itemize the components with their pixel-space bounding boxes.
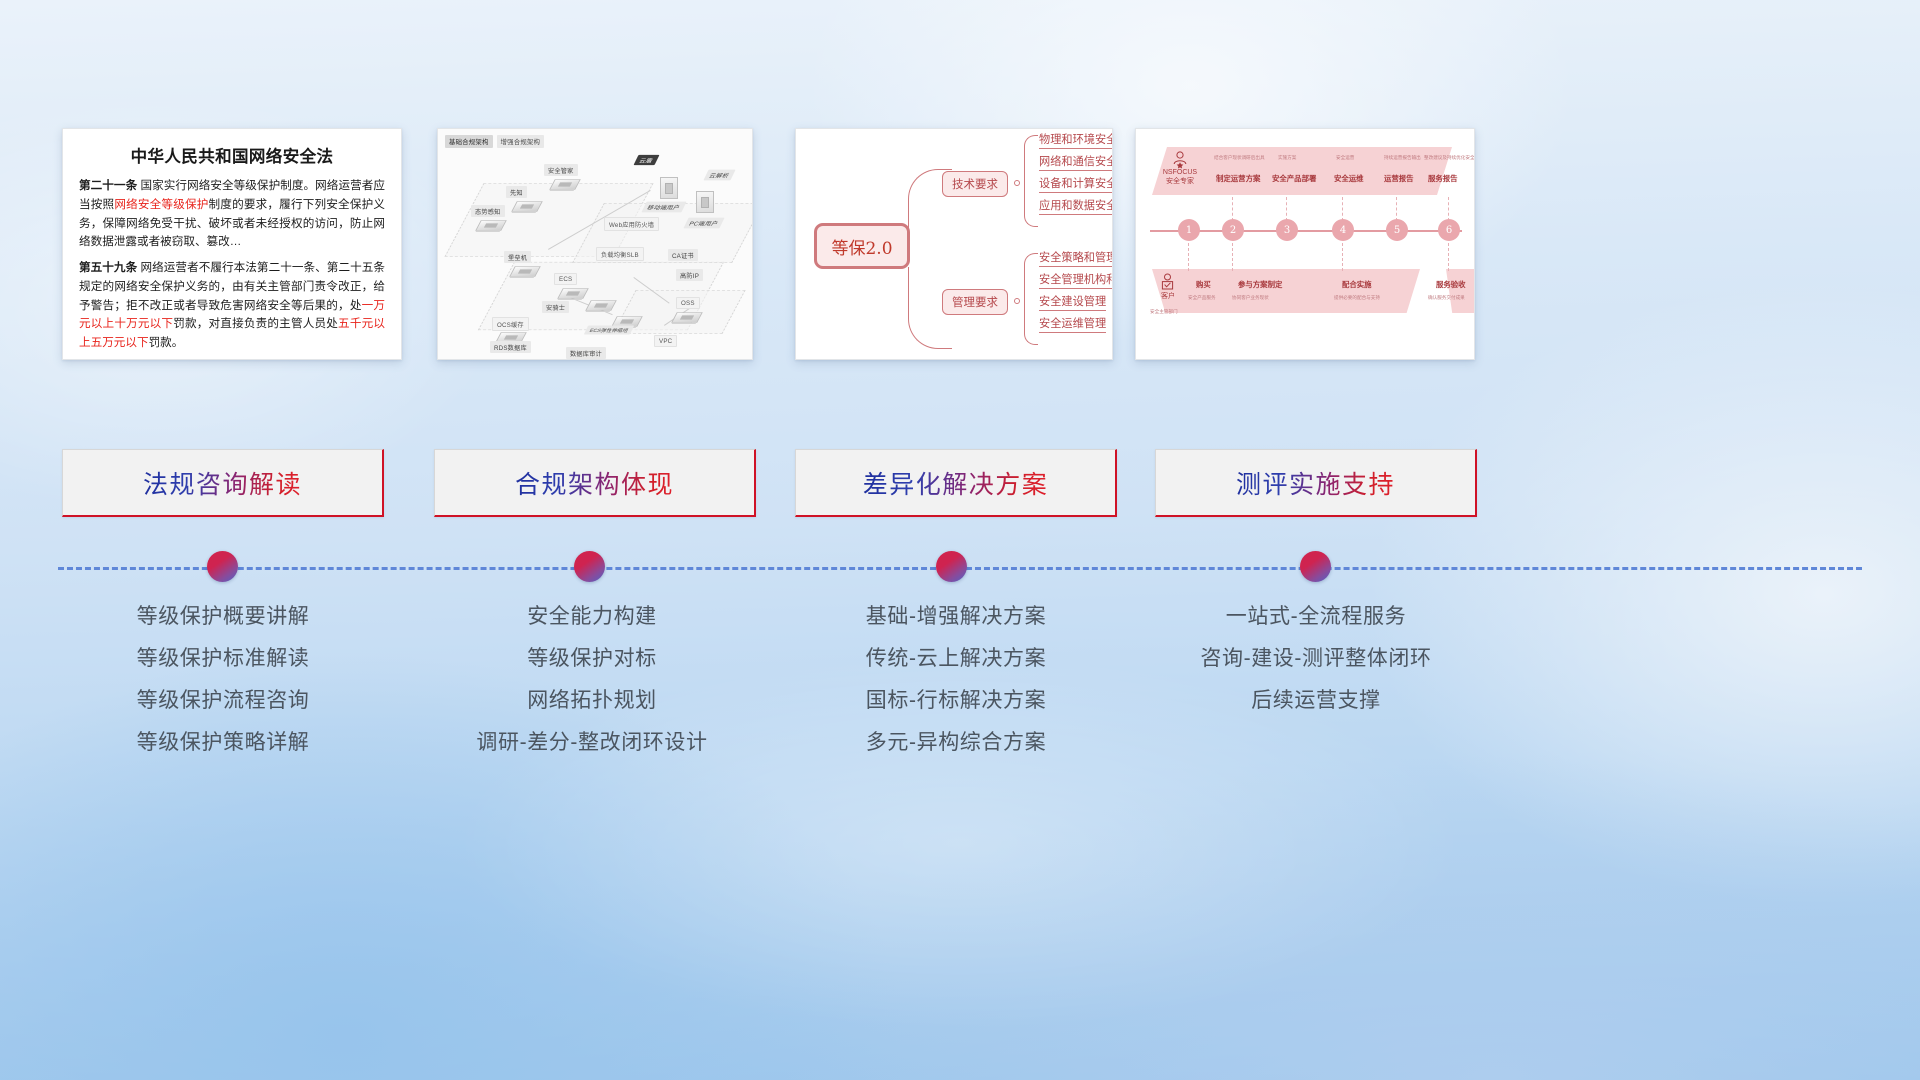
list-item: 基础-增强解决方案 [786,606,1126,628]
banner-label-1: 法规咨询解读 [143,465,302,501]
chip-slb: 负载均衡SLB [596,247,644,261]
upper-sub-5: 整改建议及持续优化安全运营体系 [1424,155,1475,161]
law-document: 中华人民共和国网络安全法 第二十一条 国家实行网络安全等级保护制度。网络运营者应… [63,129,401,360]
list-item: 网络拓扑规划 [422,690,762,712]
chip-mobile-user: 移动端用户 [641,202,686,213]
thumbnail-card-timeline[interactable]: NSFOCUS 安全专家 结合客户现状调研后出具 制定运营方案 实施方案 安全产… [1135,128,1475,360]
server-pc-client [696,191,714,213]
upper-label-3: 安全运维 [1334,173,1364,184]
list-item: 后续运营支撑 [1146,690,1486,712]
mindmap-leaf-policy-system: 安全策略和管理制度 [1039,249,1113,267]
upper-label-2: 安全产品部署 [1272,173,1316,184]
timeline-brand-label: NSFOCUS 安全专家 [1158,169,1202,187]
list-item: 传统-云上解决方案 [786,648,1126,670]
timeline-stem-2-down [1232,243,1233,271]
list-item: 国标-行标解决方案 [786,690,1126,712]
timeline-stem-5 [1396,197,1397,221]
bullet-column-1: 等级保护概要讲解 等级保护标准解读 等级保护流程咨询 等级保护策略详解 [53,606,393,774]
timeline-stem-1-down [1188,243,1189,271]
chip-security-butler: 安全管家 [544,164,578,176]
timeline-node-2: 2 [1222,219,1244,241]
timeline-stem-4-down [1342,243,1343,271]
timeline-node-1: 1 [1178,219,1200,241]
architecture-tabs[interactable]: 基础合规架构 增强合规架构 [445,135,544,148]
rail-dot-3[interactable] [936,551,967,582]
brand-role: 安全专家 [1158,178,1202,187]
article-21-highlight: 网络安全等级保护 [114,198,208,211]
mindmap-leaf-construction-mgmt: 安全建设管理 [1039,293,1106,311]
bullet-column-3: 基础-增强解决方案 传统-云上解决方案 国标-行标解决方案 多元-异构综合方案 [786,606,1126,774]
banner-label-2: 合规架构体现 [515,465,674,501]
rail-dot-2[interactable] [574,551,605,582]
upper-label-5: 服务报告 [1428,173,1458,184]
timeline-lower-band-2 [1446,269,1475,313]
mindmap-leaf-physical-env: 物理和环境安全 [1039,131,1113,149]
list-item: 等级保护对标 [422,648,762,670]
architecture-diagram: 基础合规架构 增强合规架构 云盾 态势感知 先知 安全管家 堡垒机 [438,129,752,359]
bullet-column-4: 一站式-全流程服务 咨询-建设-测评整体闭环 后续运营支撑 [1146,606,1486,732]
lower-label-2: 参与方案制定 [1238,279,1282,290]
article-59-label: 第五十九条 [79,261,137,274]
timeline-customer-label: 客户 [1150,293,1186,302]
bullet-column-2: 安全能力构建 等级保护对标 网络拓扑规划 调研-差分-整改闭环设计 [422,606,762,774]
timeline-stem-6-down [1448,243,1449,271]
timeline-node-5: 5 [1386,219,1408,241]
customer-sub: 安全主管部门 [1150,309,1178,315]
chip-ca-certificate: CA证书 [668,249,698,261]
list-item: 等级保护策略详解 [53,732,393,754]
chip-pc-user: PC端用户 [683,218,724,229]
banner-evaluation-support[interactable]: 测评实施支持 [1155,449,1477,517]
mindmap-leaf-ops-mgmt: 安全运维管理 [1039,315,1106,333]
upper-label-1: 制定运营方案 [1216,173,1260,184]
service-timeline-diagram: NSFOCUS 安全专家 结合客户现状调研后出具 制定运营方案 实施方案 安全产… [1136,129,1474,359]
lower-label-3: 配合实施 [1342,279,1372,290]
upper-label-4: 运营报告 [1384,173,1414,184]
chip-db-audit: 数据库审计 [566,347,606,359]
banner-differentiated-solution[interactable]: 差异化解决方案 [795,449,1117,517]
mindmap-dot-management [1014,298,1020,304]
mindmap-leaf-org-personnel: 安全管理机构和人员 [1039,271,1113,289]
timeline-stem-2 [1232,197,1233,221]
list-item: 等级保护标准解读 [53,648,393,670]
mindmap-root-node: 等保2.0 [814,223,910,269]
chip-anqishi: 安骑士 [542,301,569,313]
chip-bastion-host: 堡垒机 [504,251,531,263]
banner-label-3: 差异化解决方案 [863,465,1049,501]
upper-sub-2: 实施方案 [1278,155,1296,161]
list-item: 咨询-建设-测评整体闭环 [1146,648,1486,670]
list-item: 等级保护流程咨询 [53,690,393,712]
chip-cloud-shield: 云盾 [634,155,660,165]
article-59-text-c: 罚款。 [149,336,184,349]
law-title: 中华人民共和国网络安全法 [79,143,385,167]
timeline-stem-4 [1342,197,1343,221]
customer-icon [1160,273,1175,290]
timeline-stem-6 [1448,197,1449,221]
timeline-node-4: 4 [1332,219,1354,241]
lower-sub-2: 协同客户业务现状 [1232,295,1269,301]
mindmap-diagram: 等保2.0 技术要求 物理和环境安全 网络和通信安全 设备和计算安全 应用和数据… [796,129,1112,359]
banner-label-4: 测评实施支持 [1236,465,1395,501]
mindmap-fan-technical [1024,135,1038,227]
chip-rds-database: RDS数据库 [490,341,531,353]
list-item: 调研-差分-整改闭环设计 [422,732,762,754]
lower-label-4: 服务验收 [1436,279,1466,290]
chip-ecs: ECS [554,273,577,285]
customer-role: 客户 [1150,293,1186,302]
lower-sub-3: 提供必要的配合与支持 [1334,295,1380,301]
security-expert-icon [1172,151,1188,169]
law-article-59: 第五十九条 网络运营者不履行本法第二十一条、第二十五条规定的网络安全保护义务的，… [79,259,385,353]
list-item: 多元-异构综合方案 [786,732,1126,754]
list-item: 一站式-全流程服务 [1146,606,1486,628]
mindmap-branch-technical: 技术要求 [942,171,1008,197]
upper-sub-1: 结合客户现状调研后出具 [1214,155,1265,161]
tab-basic-compliance[interactable]: 基础合规架构 [445,135,493,148]
upper-sub-4: 持续运营报告输出 [1384,155,1421,161]
thumbnail-card-mindmap[interactable]: 等保2.0 技术要求 物理和环境安全 网络和通信安全 设备和计算安全 应用和数据… [795,128,1113,360]
server-mobile-client [660,177,678,199]
chip-xianzhi: 先知 [506,186,527,198]
upper-sub-3: 安全运营 [1336,155,1354,161]
mindmap-leaf-device-compute: 设备和计算安全 [1039,175,1113,193]
mindmap-dot-technical [1014,180,1020,186]
thumbnail-card-law[interactable]: 中华人民共和国网络安全法 第二十一条 国家实行网络安全等级保护制度。网络运营者应… [62,128,402,360]
law-article-21: 第二十一条 国家实行网络安全等级保护制度。网络运营者应当按照网络安全等级保护制度… [79,177,385,252]
mindmap-fan-management [1024,253,1038,345]
lower-sub-1: 安全产品服务 [1188,295,1216,301]
chip-ecs-scaling-group: ECS弹性伸缩组 [584,326,635,335]
lower-sub-4: 确认服务交付成果 [1428,295,1465,301]
tab-enhanced-compliance[interactable]: 增强合规架构 [497,135,545,148]
chip-oss: OSS [676,297,700,309]
list-item: 等级保护概要讲解 [53,606,393,628]
mindmap-branch-management: 管理要求 [942,289,1008,315]
list-item: 安全能力构建 [422,606,762,628]
timeline-stem-3 [1286,197,1287,221]
timeline-node-3: 3 [1276,219,1298,241]
slide-stage: 中华人民共和国网络安全法 第二十一条 国家实行网络安全等级保护制度。网络运营者应… [0,0,1920,1080]
chip-ocs-cache: OCS缓存 [492,317,529,331]
timeline-lower-band [1152,269,1420,313]
thumbnail-card-architecture[interactable]: 基础合规架构 增强合规架构 云盾 态势感知 先知 安全管家 堡垒机 [437,128,753,360]
lower-label-1: 购买 [1196,279,1211,290]
chip-anti-ddos-ip: 高防IP [676,269,703,281]
article-21-label: 第二十一条 [79,179,137,192]
rail-dot-4[interactable] [1300,551,1331,582]
chip-situational-awareness: 态势感知 [471,205,505,217]
chip-waf: Web应用防火墙 [604,217,659,231]
banner-regulation-consulting[interactable]: 法规咨询解读 [62,449,384,517]
article-59-text-b: 罚款，对直接负责的主管人员处 [173,317,338,330]
brand-name: NSFOCUS [1158,169,1202,178]
mindmap-leaf-network-comm: 网络和通信安全 [1039,153,1113,171]
rail-dot-1[interactable] [207,551,238,582]
mindmap-leaf-app-data: 应用和数据安全 [1039,197,1113,215]
banner-compliance-architecture[interactable]: 合规架构体现 [434,449,756,517]
timeline-node-6: 6 [1438,219,1460,241]
chip-vpc: VPC [654,335,677,347]
chip-dns-resolution: 云解析 [703,170,735,181]
